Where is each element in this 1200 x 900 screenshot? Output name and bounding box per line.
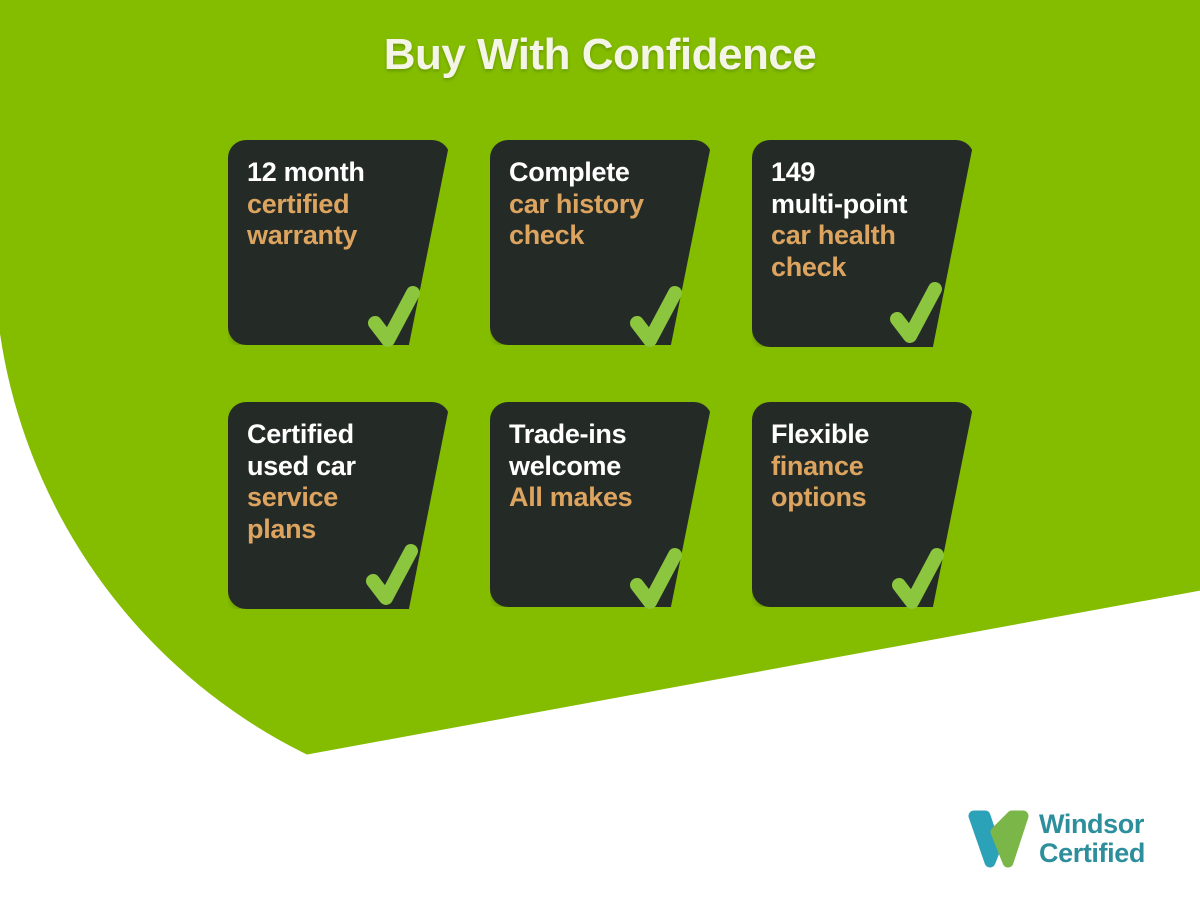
feature-card-row-bottom: Certifiedused carserviceplansTrade-inswe… xyxy=(228,402,976,609)
card-text-line: options xyxy=(771,482,944,514)
card-text-block: Flexiblefinanceoptions xyxy=(771,419,944,514)
feature-card-row-top: 12 monthcertifiedwarrantyCompletecar his… xyxy=(228,140,976,347)
check-icon xyxy=(364,541,420,611)
card-text-line: 12 month xyxy=(247,157,420,189)
card-text-line: used car xyxy=(247,451,420,483)
feature-card-certified-warranty[interactable]: 12 monthcertifiedwarranty xyxy=(228,140,450,345)
card-text-line: Certified xyxy=(247,419,420,451)
card-text-line: service xyxy=(247,482,420,514)
card-text-line: Trade-ins xyxy=(509,419,682,451)
check-icon xyxy=(888,279,944,349)
feature-card-multi-point-check[interactable]: 149multi-pointcar healthcheck xyxy=(752,140,974,347)
card-text-line: welcome xyxy=(509,451,682,483)
check-icon xyxy=(628,283,684,353)
card-text-block: Certifiedused carserviceplans xyxy=(247,419,420,545)
card-text-line: 149 xyxy=(771,157,944,189)
card-text-line: car health xyxy=(771,220,944,252)
feature-card-finance-options[interactable]: Flexiblefinanceoptions xyxy=(752,402,974,607)
card-text-line: multi-point xyxy=(771,189,944,221)
promo-banner: Buy With Confidence 12 monthcertifiedwar… xyxy=(0,0,1200,900)
logo-line-1: Windsor xyxy=(1039,810,1145,839)
card-text-line: car history xyxy=(509,189,682,221)
windsor-certified-logo: Windsor Certified xyxy=(968,810,1145,868)
card-text-block: Trade-inswelcomeAll makes xyxy=(509,419,682,514)
card-text-block: Completecar historycheck xyxy=(509,157,682,252)
feature-card-grid: 12 monthcertifiedwarrantyCompletecar his… xyxy=(228,140,976,609)
card-text-line: finance xyxy=(771,451,944,483)
card-text-line: certified xyxy=(247,189,420,221)
page-title: Buy With Confidence xyxy=(0,30,1200,80)
logo-line-2: Certified xyxy=(1039,839,1145,868)
check-icon xyxy=(890,545,946,615)
check-icon xyxy=(628,545,684,615)
card-text-line: warranty xyxy=(247,220,420,252)
card-text-line: check xyxy=(509,220,682,252)
card-text-line: Complete xyxy=(509,157,682,189)
feature-card-trade-ins[interactable]: Trade-inswelcomeAll makes xyxy=(490,402,712,607)
windsor-w-icon xyxy=(968,810,1030,868)
check-icon xyxy=(366,283,422,353)
card-text-block: 149multi-pointcar healthcheck xyxy=(771,157,944,283)
card-text-line: All makes xyxy=(509,482,682,514)
card-text-line: Flexible xyxy=(771,419,944,451)
card-text-block: 12 monthcertifiedwarranty xyxy=(247,157,420,252)
logo-wordmark: Windsor Certified xyxy=(1039,810,1145,868)
feature-card-car-history-check[interactable]: Completecar historycheck xyxy=(490,140,712,345)
feature-card-service-plans[interactable]: Certifiedused carserviceplans xyxy=(228,402,450,609)
